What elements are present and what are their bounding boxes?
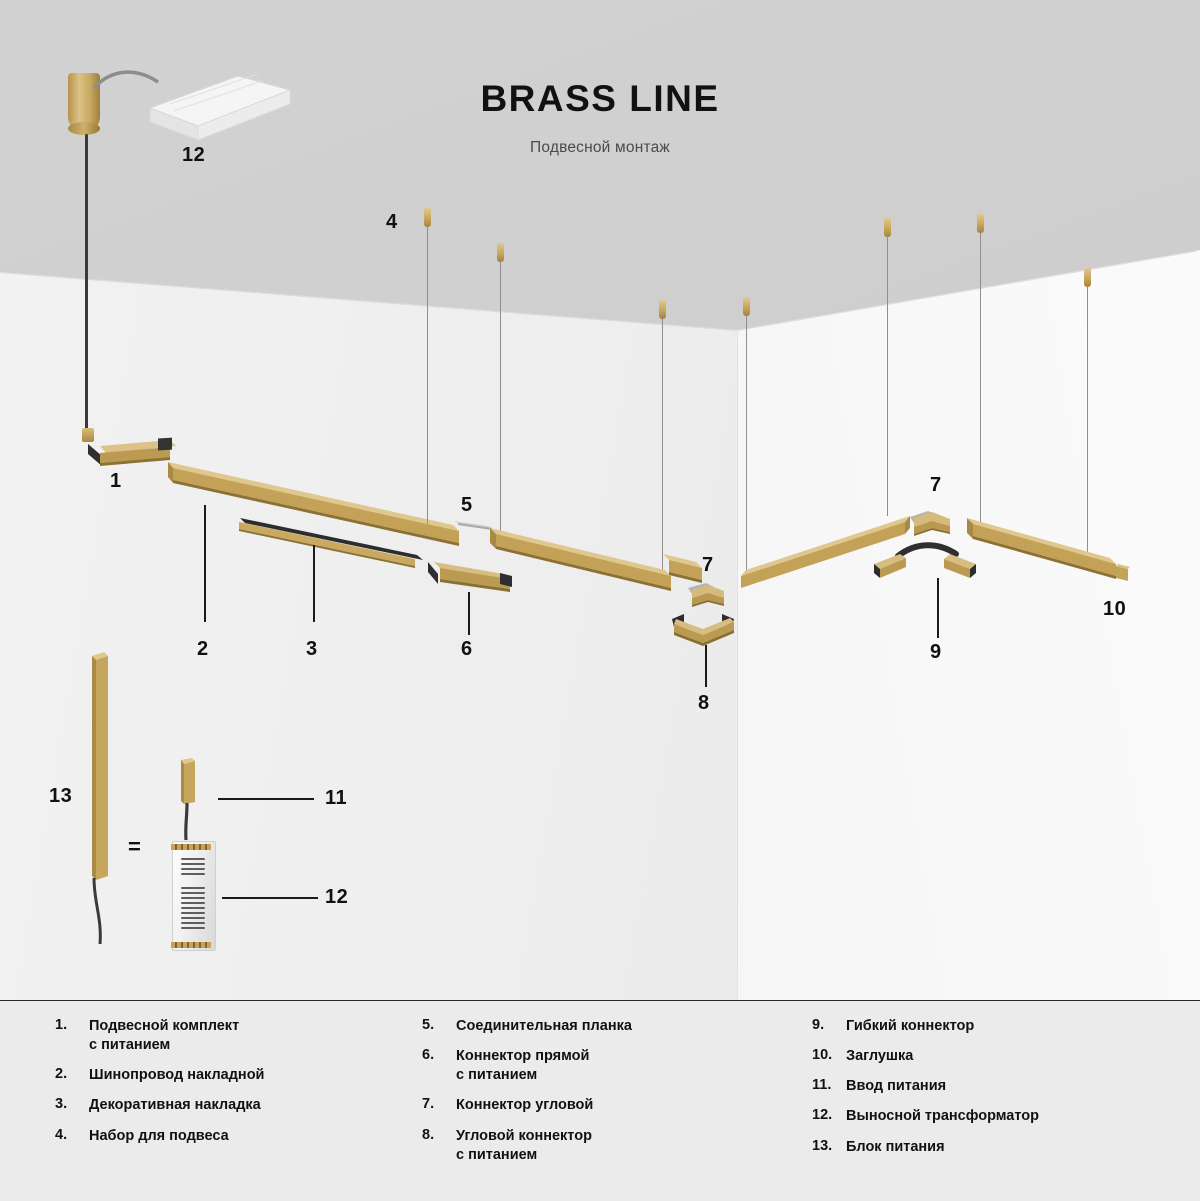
leader-line-12 <box>222 897 318 899</box>
rail-left-a-body <box>487 518 687 596</box>
legend-item: 3. Декоративная накладка <box>55 1096 400 1115</box>
legend-label: Гибкий коннектор <box>846 1017 974 1036</box>
psu-vent-3 <box>181 868 205 870</box>
legend-index: 8. <box>422 1127 456 1165</box>
legend-item: 8. Угловой коннекторс питанием <box>422 1127 790 1165</box>
callout-10: 10 <box>1103 598 1126 621</box>
legend-item: 12. Выносной трансформатор <box>812 1107 1200 1126</box>
legend-label: Набор для подвеса <box>89 1127 229 1146</box>
psu-terminal-bottom <box>171 942 211 948</box>
wire-6 <box>980 232 981 524</box>
wall-corner-edge <box>737 330 738 1000</box>
psu-vent-11 <box>181 917 205 919</box>
legend-index: 2. <box>55 1066 89 1085</box>
part-13-body <box>84 648 116 948</box>
legend-index: 13. <box>812 1138 846 1157</box>
psu-vent-1 <box>181 858 205 860</box>
part-9-body <box>866 540 986 590</box>
legend-label: Шинопровод накладной <box>89 1066 264 1085</box>
legend-index: 1. <box>55 1017 89 1055</box>
wire-tip-6 <box>977 214 984 233</box>
legend-item: 4. Набор для подвеса <box>55 1127 400 1146</box>
legend-index: 6. <box>422 1047 456 1085</box>
poster-root: 12 1 2 <box>0 0 1200 1200</box>
wire-tip-3 <box>659 300 666 319</box>
callout-1: 1 <box>110 470 122 493</box>
legend-index: 7. <box>422 1096 456 1115</box>
legend-item: 13. Блок питания <box>812 1138 1200 1157</box>
wire-2 <box>500 261 501 533</box>
legend-label: Декоративная накладка <box>89 1096 261 1115</box>
part-8-body <box>666 605 746 650</box>
legend-panel: 1. Подвесной комплектс питанием 2. Шиноп… <box>0 1000 1200 1201</box>
legend-column-2: 5. Соединительная планка 6. Коннектор пр… <box>400 1017 790 1176</box>
legend-item: 9. Гибкий коннектор <box>812 1017 1200 1036</box>
legend-index: 11. <box>812 1077 846 1096</box>
legend-label: Выносной трансформатор <box>846 1107 1039 1126</box>
leader-line-2 <box>204 505 206 622</box>
leader-line-6 <box>468 592 470 635</box>
page-subtitle: Подвесной монтаж <box>0 139 1200 157</box>
legend-index: 3. <box>55 1096 89 1115</box>
psu-vent-12 <box>181 922 205 924</box>
psu-vent-13 <box>181 927 205 929</box>
legend-index: 5. <box>422 1017 456 1036</box>
psu-vent-9 <box>181 907 205 909</box>
gold-cylinder-cap <box>68 122 100 135</box>
psu-vent-2 <box>181 863 205 865</box>
callout-8: 8 <box>698 692 710 715</box>
legend-item: 6. Коннектор прямойс питанием <box>422 1047 790 1085</box>
scene-3d: 12 1 2 <box>0 0 1200 1000</box>
legend-column-1: 1. Подвесной комплектс питанием 2. Шиноп… <box>0 1017 400 1176</box>
psu-vent-7 <box>181 897 205 899</box>
wire-1 <box>427 226 428 524</box>
legend-item: 7. Коннектор угловой <box>422 1096 790 1115</box>
legend-index: 12. <box>812 1107 846 1126</box>
wire-tip-7 <box>1084 268 1091 287</box>
callout-7-left: 7 <box>702 554 714 577</box>
wire-5 <box>887 236 888 516</box>
legend-label: Подвесной комплектс питанием <box>89 1017 239 1055</box>
legend-item: 11. Ввод питания <box>812 1077 1200 1096</box>
legend-item: 1. Подвесной комплектс питанием <box>55 1017 400 1055</box>
legend-item: 2. Шинопровод накладной <box>55 1066 400 1085</box>
wire-tip-2 <box>497 243 504 262</box>
wire-tip-1 <box>424 208 431 227</box>
legend-label: Заглушка <box>846 1047 913 1066</box>
legend-column-3: 9. Гибкий коннектор 10. Заглушка 11. Вво… <box>790 1017 1200 1176</box>
leader-line-9 <box>937 578 939 638</box>
suspension-cable-1 <box>85 134 88 434</box>
legend-label: Ввод питания <box>846 1077 946 1096</box>
leader-line-11 <box>218 798 314 800</box>
legend-columns: 1. Подвесной комплектс питанием 2. Шиноп… <box>0 1001 1200 1176</box>
legend-index: 10. <box>812 1047 846 1066</box>
legend-index: 9. <box>812 1017 846 1036</box>
psu-terminal-top <box>171 844 211 850</box>
callout-3: 3 <box>306 638 318 661</box>
part-3-body <box>235 510 435 575</box>
legend-label: Блок питания <box>846 1138 945 1157</box>
psu-vent-10 <box>181 912 205 914</box>
legend-item: 5. Соединительная планка <box>422 1017 790 1036</box>
legend-label: Угловой коннекторс питанием <box>456 1127 592 1165</box>
wire-tip-5 <box>884 218 891 237</box>
callout-2: 2 <box>197 638 209 661</box>
callout-5: 5 <box>461 494 473 517</box>
callout-11-bottom: 11 <box>325 787 347 810</box>
legend-label: Соединительная планка <box>456 1017 632 1036</box>
psu-body <box>172 841 216 951</box>
legend-label: Коннектор угловой <box>456 1096 593 1115</box>
psu-vent-4 <box>181 873 205 875</box>
leader-line-3 <box>313 545 315 622</box>
psu-vent-6 <box>181 892 205 894</box>
callout-13: 13 <box>49 785 72 808</box>
callout-6: 6 <box>461 638 473 661</box>
legend-index: 4. <box>55 1127 89 1146</box>
leader-line-8 <box>705 645 707 687</box>
wire-tip-4 <box>743 297 750 316</box>
part-10-body <box>1113 560 1139 586</box>
psu-vent-8 <box>181 902 205 904</box>
psu-vent-5 <box>181 887 205 889</box>
equals-sign: = <box>128 834 141 860</box>
part-7-right-body <box>906 505 966 543</box>
legend-item: 10. Заглушка <box>812 1047 1200 1066</box>
callout-7-right: 7 <box>930 474 942 497</box>
rail-right-b-body <box>962 508 1132 588</box>
callout-9: 9 <box>930 641 942 664</box>
callout-12-bottom: 12 <box>325 886 348 909</box>
callout-4: 4 <box>386 211 398 234</box>
legend-label: Коннектор прямойс питанием <box>456 1047 589 1085</box>
page-title: BRASS LINE <box>0 78 1200 120</box>
